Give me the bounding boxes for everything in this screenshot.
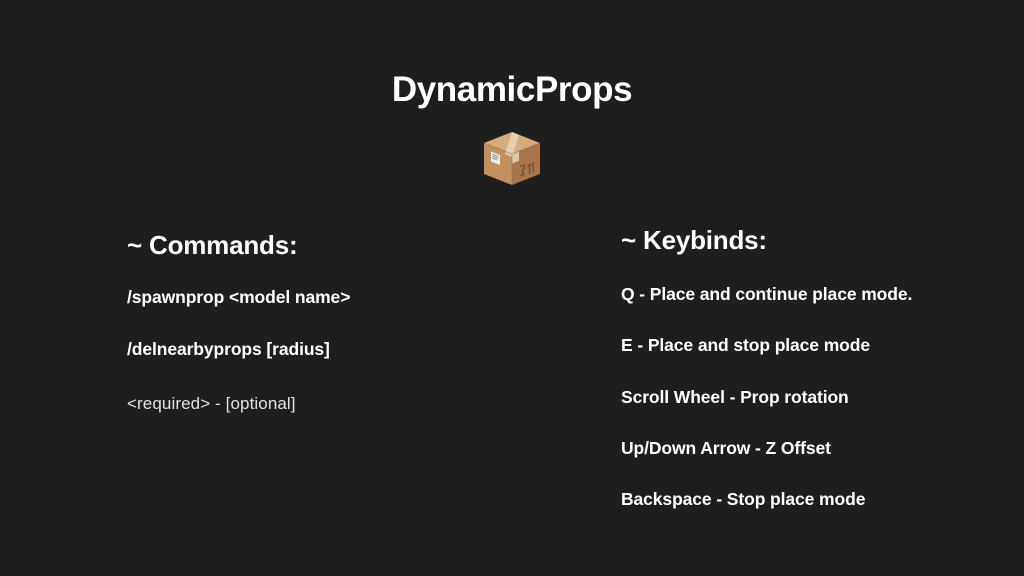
package-box-emoji	[481, 130, 543, 190]
command-item: /spawnprop <model name>	[127, 287, 567, 309]
info-card: DynamicProps	[0, 0, 1024, 576]
commands-legend: <required> - [optional]	[127, 393, 567, 414]
keybind-item: Up/Down Arrow - Z Offset	[621, 436, 981, 461]
keybinds-column: ~ Keybinds: Q - Place and continue place…	[621, 226, 981, 513]
keybinds-heading: ~ Keybinds:	[621, 226, 981, 256]
keybind-item: E - Place and stop place mode	[621, 333, 981, 358]
commands-heading: ~ Commands:	[127, 231, 567, 261]
commands-column: ~ Commands: /spawnprop <model name> /del…	[127, 231, 567, 414]
hero-icon-container	[0, 128, 1024, 192]
page-title: DynamicProps	[0, 72, 1024, 107]
keybind-item: Q - Place and continue place mode.	[621, 282, 981, 307]
keybind-item: Scroll Wheel - Prop rotation	[621, 385, 981, 410]
command-item: /delnearbyprops [radius]	[127, 339, 567, 361]
keybind-item: Backspace - Stop place mode	[621, 487, 981, 512]
